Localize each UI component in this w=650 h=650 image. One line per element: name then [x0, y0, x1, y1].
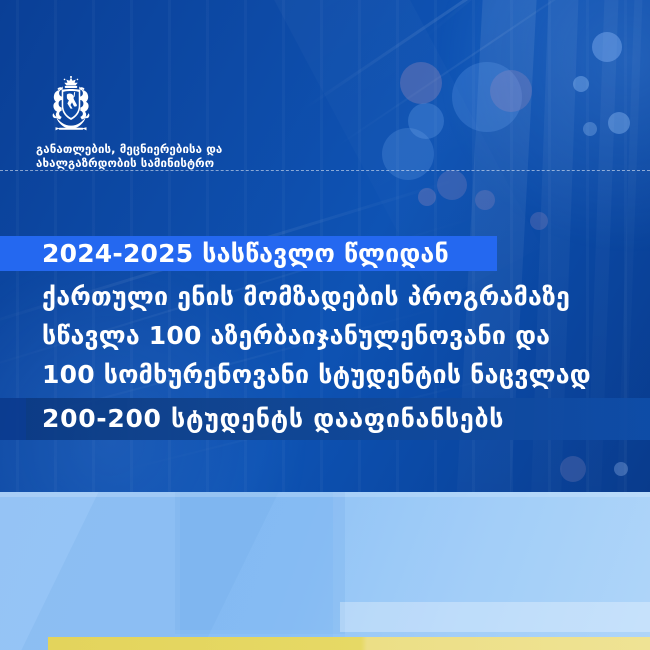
bokeh-circle-5 — [573, 76, 589, 92]
bokeh-circle-3 — [490, 70, 532, 112]
body-text-block: ქართული ენის მომზადების პროგრამაზე სწავლ… — [42, 277, 622, 394]
dashed-divider — [0, 170, 650, 171]
bokeh-circle-10 — [437, 170, 467, 200]
body-line-1: ქართული ენის მომზადების პროგრამაზე — [42, 277, 622, 316]
georgia-coat-of-arms-icon — [40, 76, 102, 134]
bokeh-circle-12 — [475, 190, 495, 210]
body-line-2: სწავლა 100 აზერბაიჯანულენოვანი და — [42, 316, 622, 355]
footer-shape-right-strip — [340, 602, 650, 632]
bokeh-circle-15 — [614, 462, 628, 476]
bokeh-circle-13 — [530, 212, 548, 230]
bokeh-circle-9 — [382, 128, 434, 180]
bokeh-circle-1 — [400, 62, 442, 104]
footer-top-highlight — [0, 492, 650, 497]
bokeh-circle-6 — [608, 112, 630, 134]
headline-text: 2024-2025 სასწავლო წლიდან — [42, 238, 449, 269]
footer-background — [0, 492, 650, 650]
bokeh-circle-4 — [592, 32, 622, 62]
bokeh-circle-14 — [560, 456, 586, 482]
footer-shape-center-block — [175, 492, 345, 634]
bokeh-circle-11 — [418, 188, 436, 206]
accent-yellow-bar — [48, 637, 650, 650]
body-line-3: 100 სომხურენოვანი სტუდენტის ნაცვლად — [42, 355, 622, 394]
emphasis-text: 200-200 სტუდენტს დააფინანსებს — [42, 402, 504, 436]
ministry-name-label: განათლების, მეცნიერებისა და ახალგაზრდობი… — [36, 142, 296, 170]
poster-canvas: განათლების, მეცნიერებისა და ახალგაზრდობი… — [0, 0, 650, 650]
bokeh-circle-7 — [583, 122, 597, 136]
ministry-logo-block: განათლების, მეცნიერებისა და ახალგაზრდობი… — [36, 76, 296, 170]
